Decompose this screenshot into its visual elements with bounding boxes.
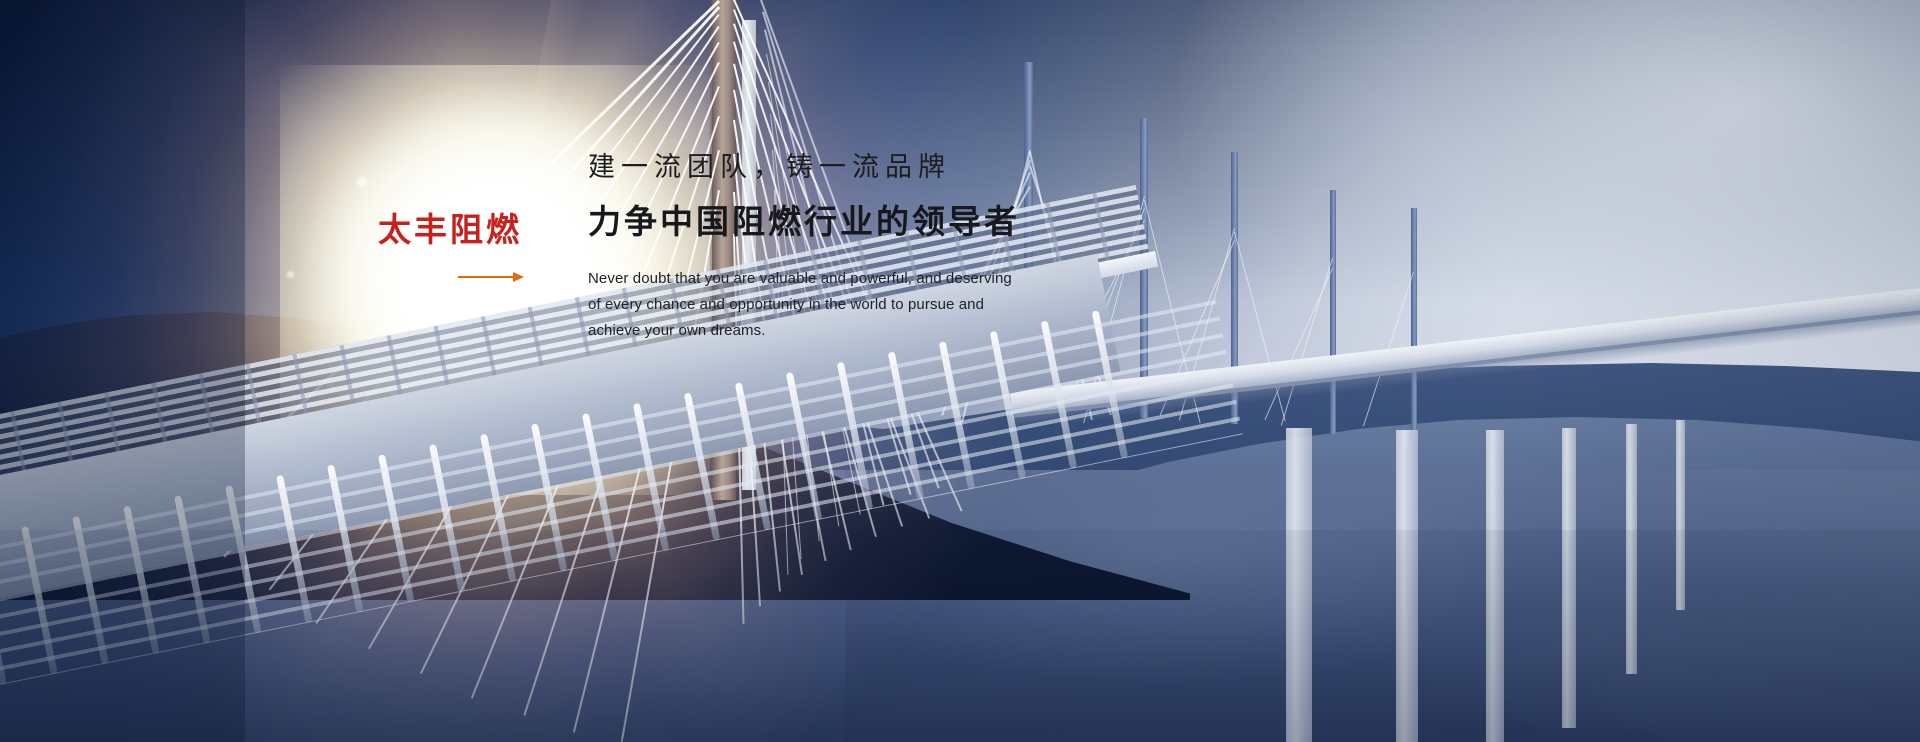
description-line-3: achieve your own dreams. [588,318,1058,344]
headline-description: Never doubt that you are valuable and po… [588,266,1058,344]
headline-block: 建一流团队，铸一流品牌 力争中国阻燃行业的领导者 Never doubt tha… [588,150,1058,344]
description-line-2: of every chance and opportunity in the w… [588,292,1058,318]
brand-logo[interactable]: 太丰阻燃 [378,213,528,282]
headline-subtitle: 建一流团队，铸一流品牌 [588,150,1058,185]
arrow-right-icon [458,272,524,282]
hero-banner: 太丰阻燃 建一流团队，铸一流品牌 力争中国阻燃行业的领导者 Never doub… [0,0,1920,742]
brand-logo-text: 太丰阻燃 [378,213,528,246]
description-line-1: Never doubt that you are valuable and po… [588,266,1058,292]
headline-title: 力争中国阻燃行业的领导者 [588,201,1058,242]
banner-content: 太丰阻燃 建一流团队，铸一流品牌 力争中国阻燃行业的领导者 Never doub… [0,0,1920,742]
